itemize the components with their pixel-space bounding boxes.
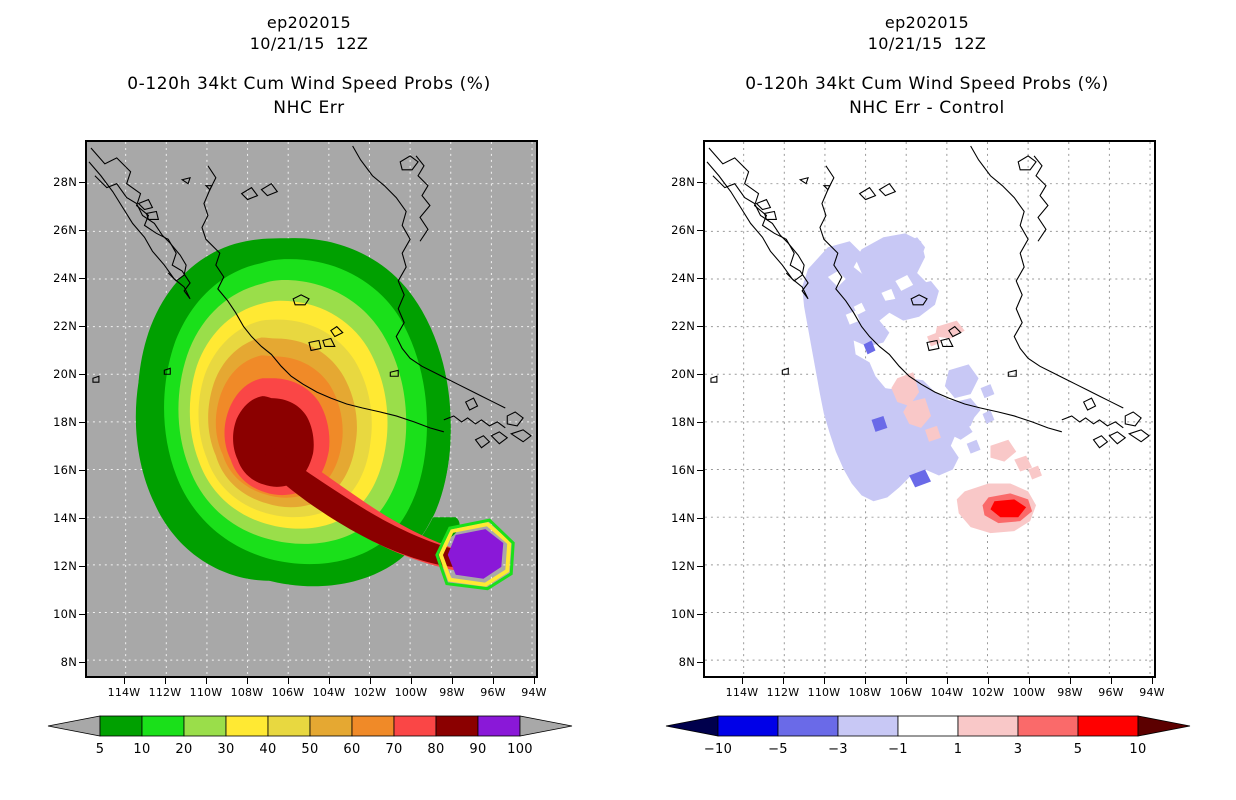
colorbar-swatch[interactable] [778,716,838,736]
colorbar-tick-label: −1 [888,742,908,757]
x-tick-mark [247,678,248,684]
colorbar-tick-label: 5 [96,742,105,757]
x-tick-label: 104W [931,686,964,699]
colorbar-swatch[interactable] [226,716,268,736]
x-tick-mark [1111,678,1112,684]
x-tick-label: 100W [395,686,428,699]
x-tick-mark [165,678,166,684]
colorbar-tick-label: 50 [301,742,318,757]
probability-contours [136,238,513,588]
x-tick-mark [865,678,866,684]
colorbar-tick-label: 1 [954,742,963,757]
colorbar-tick-label: 10 [1129,742,1146,757]
colorbar-tick-label: 30 [217,742,234,757]
x-tick-label: 100W [1013,686,1046,699]
colorbar-swatch[interactable] [958,716,1018,736]
x-tick-label: 112W [767,686,800,699]
x-tick-mark [493,678,494,684]
x-tick-label: 102W [354,686,387,699]
colorbar-swatches-right [663,712,1193,740]
contour-map-nhc-err [87,142,536,676]
x-tick-mark [411,678,412,684]
contour-map-difference [705,142,1154,676]
x-tick-label: 104W [313,686,346,699]
x-tick-mark [1152,678,1153,684]
colorbar-swatch[interactable] [352,716,394,736]
panel-nhc-err: ep202015 10/21/15 12Z 0-120h 34kt Cum Wi… [0,0,618,800]
x-tick-label: 106W [890,686,923,699]
x-tick-mark [124,678,125,684]
colorbar-under-arrow [48,716,100,736]
difference-contours [802,233,1042,533]
colorbar-swatch[interactable] [394,716,436,736]
colorbar-tick-label: 5 [1074,742,1083,757]
x-tick-mark [783,678,784,684]
x-tick-label: 110W [190,686,223,699]
colorbar-tick-label: 40 [259,742,276,757]
x-tick-label: 96W [480,686,505,699]
x-tick-mark [824,678,825,684]
colorbar-over-arrow [520,716,572,736]
colorbar-tick-label: 100 [507,742,533,757]
colorbar-difference[interactable]: −10−5−3−113510 [663,712,1193,762]
colorbar-swatch[interactable] [184,716,226,736]
colorbar-swatches-left [45,712,575,740]
x-tick-mark [534,678,535,684]
colorbar-swatch[interactable] [142,716,184,736]
colorbar-over-arrow [1138,716,1190,736]
x-tick-mark [947,678,948,684]
panel-nhc-err-minus-control: ep202015 10/21/15 12Z 0-120h 34kt Cum Wi… [618,0,1236,800]
colorbar-tick-label: 10 [133,742,150,757]
colorbar-under-arrow [666,716,718,736]
colorbar-swatch[interactable] [436,716,478,736]
colorbar-swatch[interactable] [838,716,898,736]
x-tick-mark [452,678,453,684]
x-tick-label: 114W [726,686,759,699]
x-tick-label: 110W [808,686,841,699]
colorbar-swatch[interactable] [268,716,310,736]
x-tick-mark [742,678,743,684]
colorbar-tick-label: 80 [427,742,444,757]
colorbar-nhc-err[interactable]: 5102030405060708090100 [45,712,575,762]
x-tick-mark [1070,678,1071,684]
colorbar-tick-label: −5 [768,742,788,757]
x-tick-label: 114W [108,686,141,699]
colorbar-tick-label: 20 [175,742,192,757]
x-tick-mark [988,678,989,684]
x-tick-mark [288,678,289,684]
x-tick-label: 96W [1098,686,1123,699]
x-tick-mark [206,678,207,684]
x-tick-label: 106W [272,686,305,699]
colorbar-swatch[interactable] [718,716,778,736]
x-tick-label: 102W [972,686,1005,699]
colorbar-labels-left: 5102030405060708090100 [45,740,575,762]
colorbar-swatch[interactable] [310,716,352,736]
map-plot-nhc-err[interactable] [85,140,538,678]
x-tick-label: 98W [439,686,464,699]
colorbar-swatch[interactable] [1078,716,1138,736]
colorbar-tick-label: −3 [828,742,848,757]
x-tick-mark [1029,678,1030,684]
x-tick-label: 108W [231,686,264,699]
x-tick-mark [370,678,371,684]
colorbar-labels-right: −10−5−3−113510 [663,740,1193,762]
colorbar-tick-label: 70 [385,742,402,757]
colorbar-tick-label: 3 [1014,742,1023,757]
x-tick-mark [329,678,330,684]
x-tick-mark [906,678,907,684]
colorbar-swatch[interactable] [478,716,520,736]
x-tick-label: 94W [521,686,546,699]
colorbar-tick-label: 60 [343,742,360,757]
x-tick-label: 98W [1057,686,1082,699]
map-plot-difference[interactable] [703,140,1156,678]
colorbar-swatch[interactable] [898,716,958,736]
colorbar-tick-label: 90 [469,742,486,757]
x-tick-label: 108W [849,686,882,699]
colorbar-tick-label: −10 [704,742,732,757]
x-tick-label: 94W [1139,686,1164,699]
colorbar-swatch[interactable] [100,716,142,736]
colorbar-swatch[interactable] [1018,716,1078,736]
x-tick-label: 112W [149,686,182,699]
